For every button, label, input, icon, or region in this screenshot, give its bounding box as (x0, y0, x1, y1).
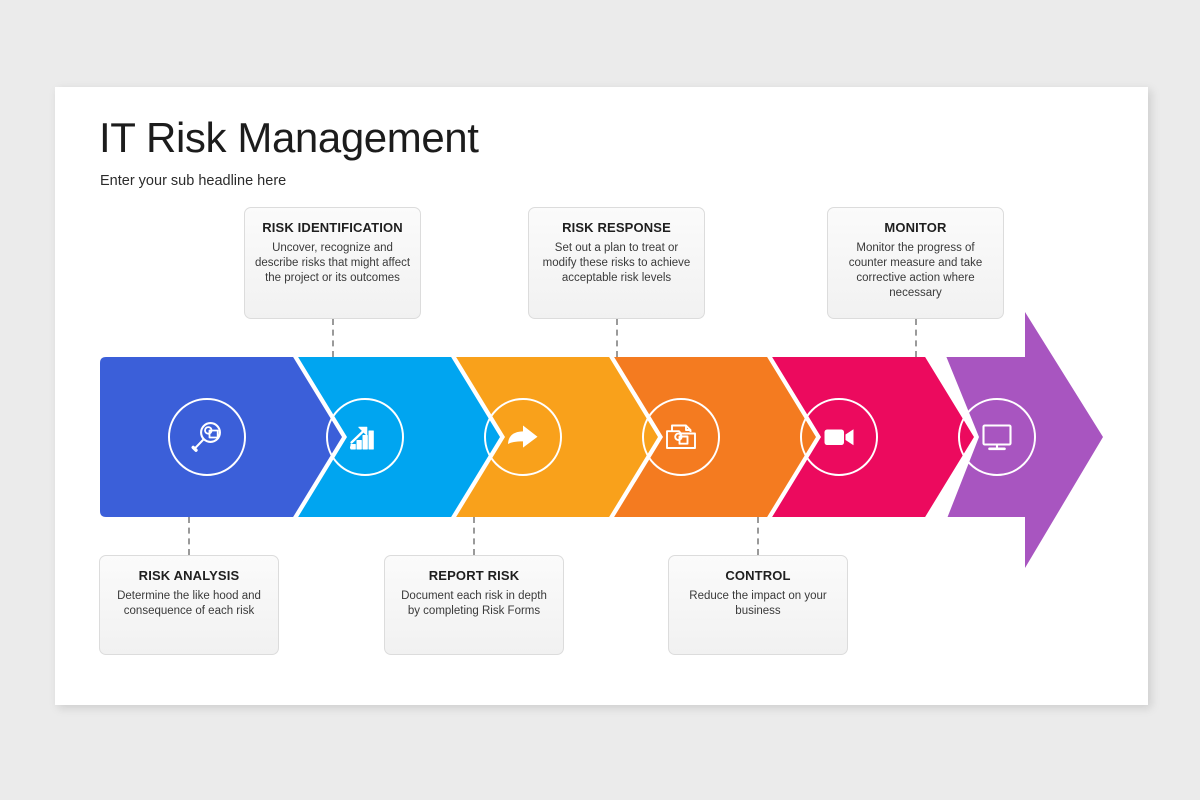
step-icon-3[interactable] (484, 398, 562, 476)
step-icon-1[interactable] (168, 398, 246, 476)
page-subtitle: Enter your sub headline here (100, 173, 286, 189)
callout-title: RISK ANALYSIS (109, 568, 269, 584)
connector-step-4 (616, 319, 618, 357)
page-title: IT Risk Management (99, 114, 479, 162)
callout-report-risk[interactable]: REPORT RISK Document each risk in depth … (384, 555, 564, 655)
callout-description: Reduce the impact on your business (678, 589, 838, 619)
video-camera-icon (819, 417, 859, 457)
connector-step-2 (332, 319, 334, 357)
share-arrow-icon (503, 417, 543, 457)
step-icon-2[interactable] (326, 398, 404, 476)
bar-chart-growth-icon (345, 417, 385, 457)
connector-step-3 (473, 517, 475, 555)
callout-risk-analysis[interactable]: RISK ANALYSIS Determine the like hood an… (99, 555, 279, 655)
callout-description: Uncover, recognize and describe risks th… (254, 241, 411, 287)
monitor-display-icon (977, 417, 1017, 457)
folder-documents-icon (661, 417, 701, 457)
step-icon-4[interactable] (642, 398, 720, 476)
callout-title: RISK RESPONSE (538, 220, 695, 236)
magnifier-search-icon (187, 417, 227, 457)
connector-step-5 (757, 517, 759, 555)
connector-step-1 (188, 517, 190, 555)
callout-title: RISK IDENTIFICATION (254, 220, 411, 236)
connector-step-6 (915, 319, 917, 357)
step-icon-5[interactable] (800, 398, 878, 476)
callout-description: Monitor the progress of counter measure … (837, 241, 994, 302)
callout-title: REPORT RISK (394, 568, 554, 584)
callout-description: Document each risk in depth by completin… (394, 589, 554, 619)
callout-control[interactable]: CONTROL Reduce the impact on your busine… (668, 555, 848, 655)
callout-title: MONITOR (837, 220, 994, 236)
slide-card: IT Risk Management Enter your sub headli… (55, 87, 1148, 705)
callout-risk-identification[interactable]: RISK IDENTIFICATION Uncover, recognize a… (244, 207, 421, 319)
callout-description: Determine the like hood and consequence … (109, 589, 269, 619)
callout-description: Set out a plan to treat or modify these … (538, 241, 695, 287)
step-icon-6[interactable] (958, 398, 1036, 476)
callout-monitor[interactable]: MONITOR Monitor the progress of counter … (827, 207, 1004, 319)
callout-title: CONTROL (678, 568, 838, 584)
callout-risk-response[interactable]: RISK RESPONSE Set out a plan to treat or… (528, 207, 705, 319)
